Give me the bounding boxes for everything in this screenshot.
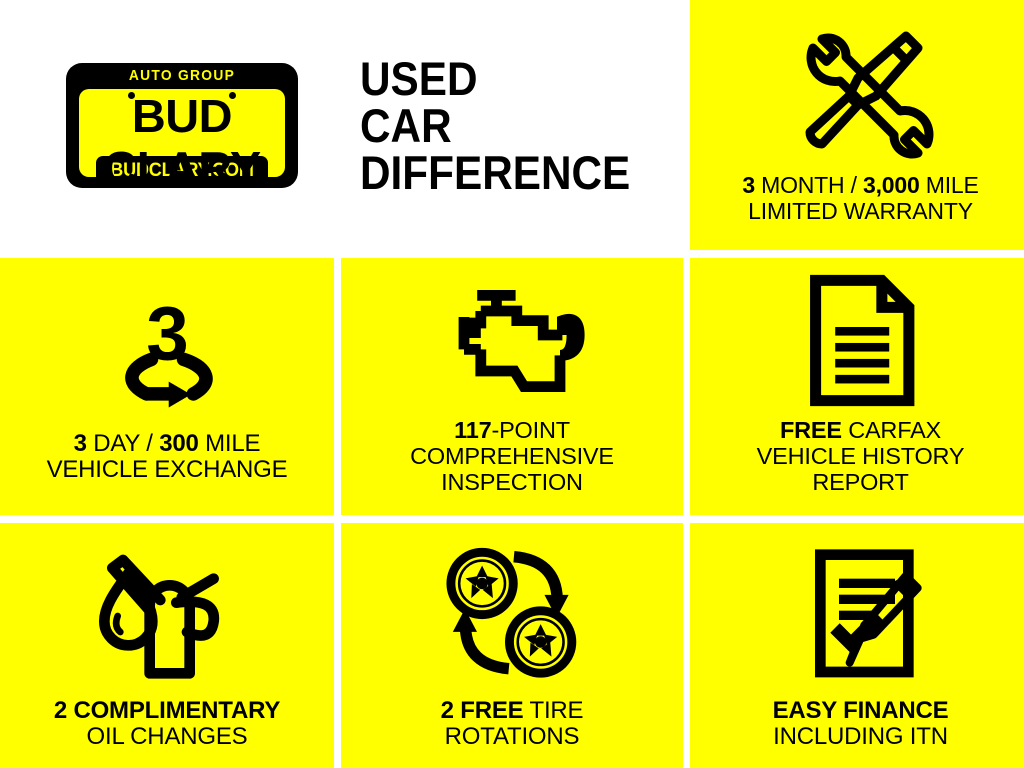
contract-pen-icon bbox=[690, 523, 1024, 698]
document-lines-icon bbox=[690, 258, 1024, 417]
feature-tile-warranty: 3 MONTH / 3,000 MILE LIMITED WARRANTY bbox=[690, 0, 1024, 250]
caption-bold: 300 bbox=[159, 430, 198, 457]
used-car-difference-grid: AUTO GROUP BUD CLARY BUDCLARY.COM USED C… bbox=[0, 0, 1024, 768]
plate-bolt-left-icon bbox=[128, 92, 135, 99]
caption-bold: 3 bbox=[74, 430, 87, 457]
caption-bold: 117 bbox=[454, 417, 491, 443]
feature-caption-oil: 2 COMPLIMENTARY OIL CHANGES bbox=[0, 698, 334, 768]
caption-regular: MILE bbox=[920, 172, 979, 198]
caption-line2: LIMITED WARRANTY bbox=[696, 198, 1024, 224]
caption-line3: REPORT bbox=[696, 469, 1024, 495]
feature-tile-inspection: 117-POINT COMPREHENSIVE INSPECTION bbox=[341, 258, 683, 515]
caption-bold: 3 bbox=[742, 172, 755, 198]
caption-bold: 3,000 bbox=[863, 172, 920, 198]
caption-line2: VEHICLE HISTORY bbox=[696, 443, 1024, 469]
feature-caption-warranty: 3 MONTH / 3,000 MILE LIMITED WARRANTY bbox=[690, 172, 1024, 250]
page-title: USED CAR DIFFERENCE bbox=[360, 55, 630, 196]
caption-bold: EASY FINANCE bbox=[773, 697, 949, 724]
caption-bold: FREE bbox=[780, 417, 842, 443]
feature-tile-carfax: FREE CARFAX VEHICLE HISTORY REPORT bbox=[690, 258, 1024, 515]
rotation-3-icon: 3 bbox=[0, 258, 334, 431]
plate-auto-group-text: AUTO GROUP bbox=[75, 67, 288, 84]
bud-clary-logo: AUTO GROUP BUD CLARY BUDCLARY.COM bbox=[66, 63, 298, 188]
check-engine-icon bbox=[341, 258, 683, 417]
plate-dealer-name: BUD CLARY bbox=[64, 90, 301, 194]
tire-rotation-icon bbox=[341, 523, 683, 698]
feature-caption-tire: 2 FREE TIRE ROTATIONS bbox=[341, 698, 683, 768]
caption-regular: DAY / bbox=[87, 430, 159, 457]
feature-tile-finance: EASY FINANCE INCLUDING ITN bbox=[690, 523, 1024, 768]
plate-bolt-right-icon bbox=[229, 92, 236, 99]
feature-caption-exchange: 3 DAY / 300 MILE VEHICLE EXCHANGE bbox=[0, 431, 334, 515]
caption-bold: 2 FREE bbox=[441, 697, 524, 724]
caption-line2: INCLUDING ITN bbox=[696, 724, 1024, 750]
caption-regular: MONTH / bbox=[755, 172, 863, 198]
header-cell: AUTO GROUP BUD CLARY BUDCLARY.COM USED C… bbox=[0, 0, 683, 250]
caption-regular: -POINT bbox=[491, 417, 569, 443]
caption-regular: CARFAX bbox=[842, 417, 941, 443]
caption-line2: COMPREHENSIVE bbox=[347, 443, 677, 469]
feature-tile-oil: 2 COMPLIMENTARY OIL CHANGES bbox=[0, 523, 334, 768]
oil-can-icon bbox=[0, 523, 334, 698]
caption-line2: OIL CHANGES bbox=[6, 724, 328, 750]
feature-tile-exchange: 3 3 DAY / 300 MILE VEHICLE EXCHANGE bbox=[0, 258, 334, 515]
caption-line2: VEHICLE EXCHANGE bbox=[6, 457, 328, 483]
feature-caption-finance: EASY FINANCE INCLUDING ITN bbox=[690, 698, 1024, 768]
caption-regular: MILE bbox=[199, 430, 261, 457]
caption-line3: INSPECTION bbox=[347, 469, 677, 495]
feature-tile-tire: 2 FREE TIRE ROTATIONS bbox=[341, 523, 683, 768]
feature-caption-carfax: FREE CARFAX VEHICLE HISTORY REPORT bbox=[690, 417, 1024, 515]
wrench-screwdriver-icon bbox=[690, 0, 1024, 172]
caption-bold: 2 COMPLIMENTARY bbox=[54, 697, 280, 724]
caption-line2: ROTATIONS bbox=[347, 724, 677, 750]
caption-regular: TIRE bbox=[523, 697, 583, 724]
feature-caption-inspection: 117-POINT COMPREHENSIVE INSPECTION bbox=[341, 417, 683, 515]
